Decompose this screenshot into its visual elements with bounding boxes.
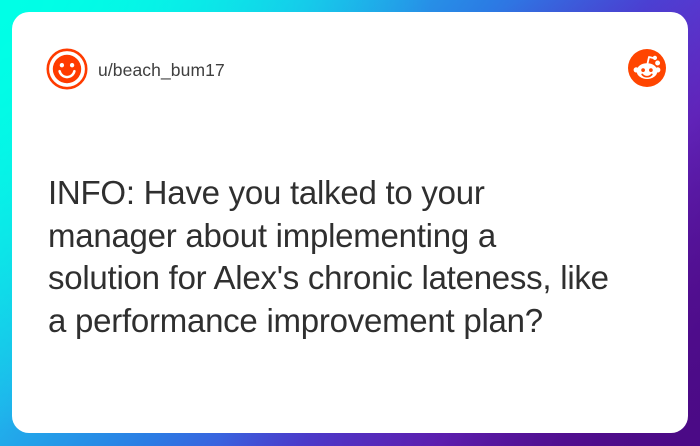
reddit-snoo-icon[interactable]	[628, 49, 666, 87]
post-text-line: INFO: Have you talked to your	[48, 172, 678, 215]
post-text-line: solution for Alex's chronic lateness, li…	[48, 257, 678, 300]
post-text-line: a performance improvement plan?	[48, 300, 678, 343]
post-body-text: INFO: Have you talked to your manager ab…	[48, 172, 678, 342]
post-header: u/beach_bum17	[12, 12, 688, 108]
post-text-line: manager about implementing a	[48, 215, 678, 258]
post-card: u/beach_bum17 INFO: Have you talked to y…	[12, 12, 688, 433]
username-label[interactable]: u/beach_bum17	[98, 58, 225, 82]
smiley-face-avatar-icon[interactable]	[46, 48, 88, 90]
